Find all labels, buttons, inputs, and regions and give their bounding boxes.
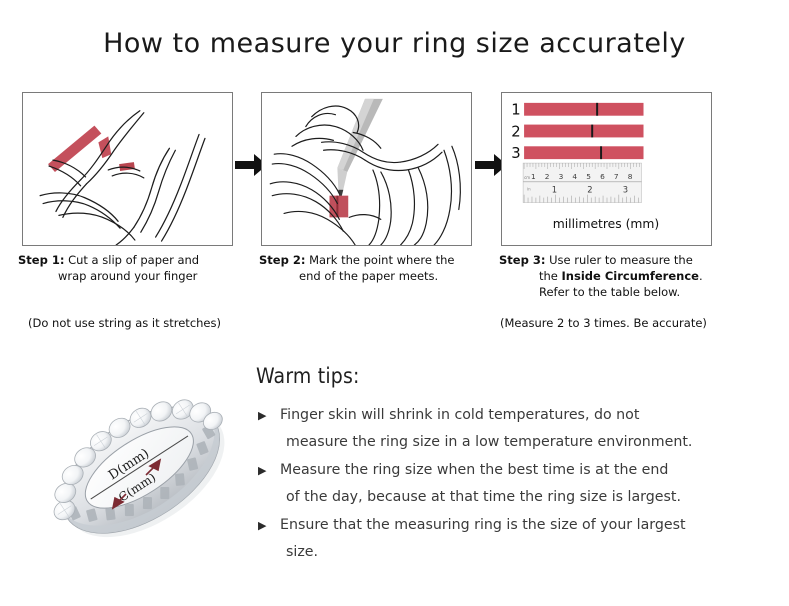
step-1-note: (Do not use string as it stretches) bbox=[28, 316, 221, 330]
ruler-top-tick-7: 7 bbox=[614, 172, 619, 181]
tip-3-line-2: size. bbox=[280, 539, 776, 566]
step-3-line-3: Refer to the table below. bbox=[499, 284, 739, 300]
ruler-top-tick-6: 6 bbox=[600, 172, 605, 181]
triangle-right-icon-3: ▶ bbox=[258, 512, 266, 539]
tip-1-line-2: measure the ring size in a low temperatu… bbox=[280, 429, 776, 456]
warm-tips-heading: Warm tips: bbox=[256, 364, 776, 388]
hand-with-paper-strip-drawing bbox=[23, 93, 232, 245]
tip-2-line-1: Measure the ring size when the best time… bbox=[280, 457, 776, 484]
strip-label-2: 2 bbox=[511, 123, 520, 140]
warm-tips-section: Warm tips: ▶ Finger skin will shrink in … bbox=[256, 364, 776, 567]
ring-measurement-illustration: D(mm) C(mm) bbox=[30, 358, 252, 583]
tip-1-line-1: Finger skin will shrink in cold temperat… bbox=[280, 402, 776, 429]
step-2-label: Step 2: bbox=[259, 253, 305, 267]
inside-circumference-emphasis: Inside Circumference bbox=[562, 269, 699, 283]
tip-item-1: ▶ Finger skin will shrink in cold temper… bbox=[256, 402, 776, 456]
strip-mark-1 bbox=[596, 103, 598, 116]
tip-item-2: ▶ Measure the ring size when the best ti… bbox=[256, 457, 776, 511]
step-3-caption: Step 3: Use ruler to measure the the Ins… bbox=[499, 252, 739, 300]
strip-label-1: 1 bbox=[511, 102, 520, 119]
step-3-label: Step 3: bbox=[499, 253, 545, 267]
step-1-illustration-panel bbox=[22, 92, 233, 246]
tip-item-3: ▶ Ensure that the measuring ring is the … bbox=[256, 512, 776, 566]
ruler-top-tick-2: 2 bbox=[545, 172, 550, 181]
strip-mark-2 bbox=[591, 125, 593, 138]
step-2-line-2: end of the paper meets. bbox=[259, 268, 489, 284]
page-title: How to measure your ring size accurately bbox=[0, 28, 789, 59]
step-1-label: Step 1: bbox=[18, 253, 64, 267]
ruler-top-tick-8: 8 bbox=[628, 172, 633, 181]
step-3-illustration-panel: 1 2 3 bbox=[501, 92, 712, 246]
tip-3-line-1: Ensure that the measuring ring is the si… bbox=[280, 512, 776, 539]
ruler-top-tick-4: 4 bbox=[572, 172, 577, 181]
hands-marking-paper-drawing bbox=[262, 93, 471, 245]
step-3-note: (Measure 2 to 3 times. Be accurate) bbox=[500, 316, 707, 330]
step-1-caption: Step 1: Cut a slip of paper and wrap aro… bbox=[18, 252, 248, 284]
step-3-line-2-post: . bbox=[699, 269, 703, 283]
step-3-line-2: the Inside Circumference. bbox=[499, 268, 739, 284]
ring-diagram-svg: D(mm) C(mm) bbox=[30, 358, 252, 583]
step-2-illustration-panel bbox=[261, 92, 472, 246]
measured-strip-2 bbox=[524, 125, 643, 138]
ruler-top-unit-label: cm bbox=[524, 175, 530, 180]
step-2-line-1: Mark the point where the bbox=[309, 253, 454, 267]
triangle-right-icon-2: ▶ bbox=[258, 457, 266, 484]
tip-2-line-2: of the day, because at that time the rin… bbox=[280, 484, 776, 511]
step-1-line-1: Cut a slip of paper and bbox=[68, 253, 199, 267]
ruler-bottom-tick-2: 2 bbox=[587, 185, 592, 195]
strip-label-3: 3 bbox=[511, 145, 520, 162]
step-3-line-1: Use ruler to measure the bbox=[549, 253, 693, 267]
ring-size-guide-page: How to measure your ring size accurately bbox=[0, 0, 789, 606]
measured-strip-1 bbox=[524, 103, 643, 116]
ruler-top-tick-3: 3 bbox=[559, 172, 564, 181]
triangle-right-icon: ▶ bbox=[258, 402, 266, 429]
ruler-top-tick-5: 5 bbox=[586, 172, 591, 181]
step-3-line-2-pre: the bbox=[539, 269, 562, 283]
ruler-graphic: 1 2 3 4 5 6 7 8 cm 1 2 3 in bbox=[523, 163, 641, 202]
ruler-bottom-tick-3: 3 bbox=[623, 185, 628, 195]
step-2-caption: Step 2: Mark the point where the end of … bbox=[259, 252, 489, 284]
step-1-line-2: wrap around your finger bbox=[18, 268, 248, 284]
measured-strips-and-ruler-diagram: 1 2 3 bbox=[502, 93, 711, 245]
ruler-caption: millimetres (mm) bbox=[553, 217, 660, 231]
measured-strip-3 bbox=[524, 146, 643, 159]
ruler-bottom-unit-label: in bbox=[527, 187, 531, 192]
ruler-bottom-tick-1: 1 bbox=[552, 185, 557, 195]
ruler-top-tick-1: 1 bbox=[531, 172, 536, 181]
strip-mark-3 bbox=[600, 146, 602, 159]
